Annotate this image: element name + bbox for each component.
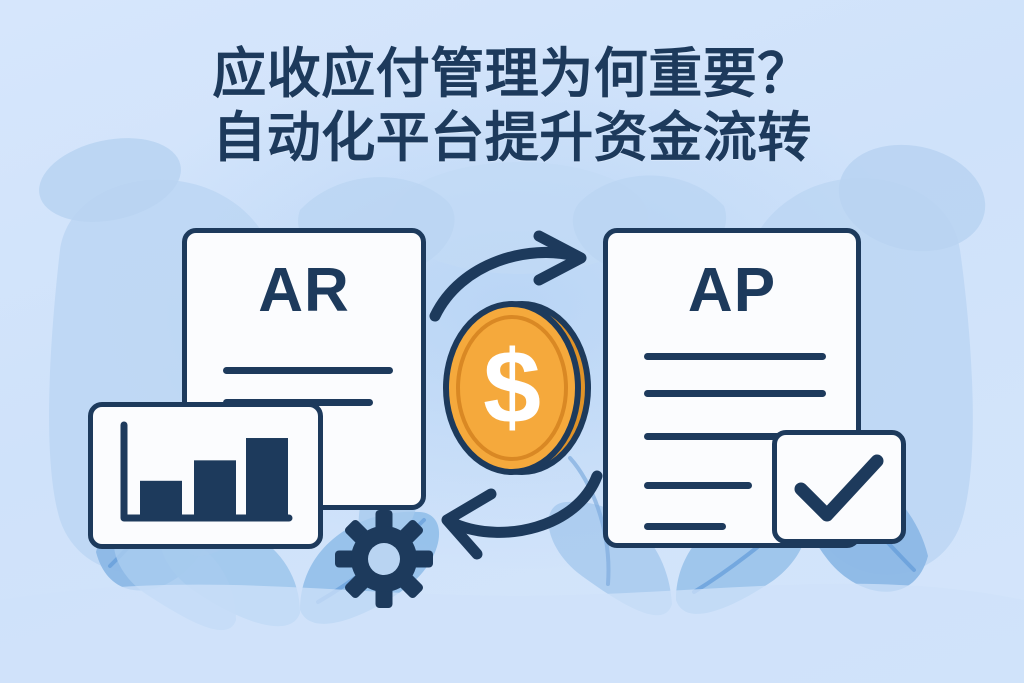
ar-text-line (223, 367, 393, 374)
ap-document-label: AP (608, 255, 856, 326)
coin-symbol: $ (483, 330, 541, 446)
chart-bar (140, 481, 182, 518)
title-line-1: 应收应付管理为何重要？ (0, 44, 1024, 104)
ap-text-line (644, 433, 786, 440)
check-mark-icon (777, 435, 901, 539)
bar-chart-card[interactable] (88, 402, 323, 549)
chart-bar (246, 438, 288, 518)
ap-text-line (644, 482, 752, 489)
check-mark-path (801, 461, 877, 515)
chart-bar (194, 460, 236, 518)
gear-hole (368, 543, 400, 575)
ap-text-line (644, 523, 726, 530)
bar-chart (93, 407, 318, 544)
title-line-2: 自动化平台提升资金流转 (0, 108, 1024, 168)
arrow-ap-to-ar-icon (425, 462, 610, 562)
ap-text-line (644, 390, 826, 397)
arrow-top-curve (435, 252, 575, 316)
page-title: 应收应付管理为何重要？ 自动化平台提升资金流转 (0, 44, 1024, 169)
gear-icon (333, 508, 435, 610)
check-badge-card[interactable] (772, 430, 906, 544)
illustration-canvas: 应收应付管理为何重要？ 自动化平台提升资金流转 AR AP (0, 0, 1024, 683)
ap-text-line (644, 353, 826, 360)
gear-badge[interactable] (333, 508, 435, 610)
decor-floor-wash (0, 584, 1024, 683)
ar-document-label: AR (187, 255, 421, 326)
arrow-ar-to-ap-icon (425, 228, 610, 338)
